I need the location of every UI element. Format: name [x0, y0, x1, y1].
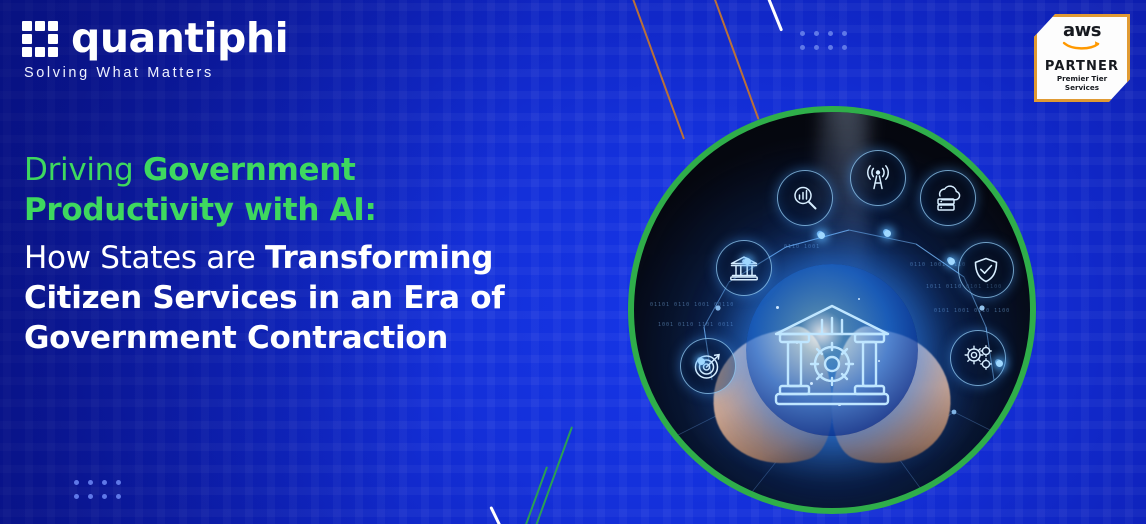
- gears-icon: [950, 330, 1006, 386]
- cloud-database-icon: [920, 170, 976, 226]
- network-spark: [818, 232, 825, 239]
- aws-logo-icon: aws: [1062, 22, 1102, 51]
- hero-image-circle: 01101 0110 1001 00110 1001 0110 1101 001…: [628, 106, 1036, 514]
- quantiphi-grid-logo-icon: [22, 21, 58, 57]
- dot-grid-top-right: [800, 31, 847, 50]
- diagonal-line-white-2: [490, 506, 505, 524]
- headline-line-1-regular: Driving: [24, 152, 143, 188]
- shield-check-icon: [958, 242, 1014, 298]
- hero-banner: quantiphi Solving What Matters aws PARTN…: [0, 0, 1146, 524]
- network-spark: [996, 360, 1003, 367]
- headline-line-3: How States are Transforming: [24, 238, 624, 278]
- target-bullseye-icon: [680, 338, 736, 394]
- aws-wordmark: aws: [1063, 22, 1101, 39]
- analytics-magnifier-icon: [777, 170, 833, 226]
- aws-tier-line2: Services: [1057, 84, 1107, 93]
- headline-line-2-bold: Productivity with AI:: [24, 192, 377, 228]
- brand-logo[interactable]: quantiphi Solving What Matters: [22, 18, 288, 81]
- aws-smile-arrow-icon: [1062, 39, 1102, 51]
- broadcast-tower-icon: [850, 150, 906, 206]
- network-spark: [744, 258, 751, 265]
- headline-line-3-bold: Transforming: [265, 240, 493, 276]
- network-spark: [884, 230, 891, 237]
- headline-line-2: Productivity with AI:: [24, 190, 624, 230]
- diagonal-line-white-1: [768, 0, 783, 31]
- headline: Driving Government Productivity with AI:…: [24, 150, 624, 358]
- headline-line-1: Driving Government: [24, 150, 624, 190]
- network-spark: [948, 258, 955, 265]
- diagonal-line-orange-2: [712, 0, 759, 120]
- headline-line-5-bold: Government Contraction: [24, 320, 448, 356]
- headline-line-1-bold: Government: [143, 152, 356, 188]
- headline-line-4-bold: Citizen Services in an Era of: [24, 280, 504, 316]
- network-spark: [698, 358, 705, 365]
- aws-partner-badge: aws PARTNER Premier Tier Services: [1034, 14, 1130, 102]
- aws-partner-tier: Premier Tier Services: [1057, 75, 1107, 92]
- government-building-icon: [716, 240, 772, 296]
- headline-line-4: Citizen Services in an Era of: [24, 278, 624, 318]
- aws-partner-level: PARTNER: [1045, 60, 1119, 73]
- diagonal-line-green-1: [533, 426, 573, 524]
- government-building-gear-icon: [757, 285, 907, 415]
- diagonal-line-green-2: [502, 466, 548, 524]
- dot-grid-bottom-left: [74, 480, 121, 499]
- headline-line-3-regular: How States are: [24, 240, 265, 276]
- headline-line-5: Government Contraction: [24, 318, 624, 358]
- brand-tagline: Solving What Matters: [24, 65, 288, 81]
- brand-name: quantiphi: [71, 18, 288, 59]
